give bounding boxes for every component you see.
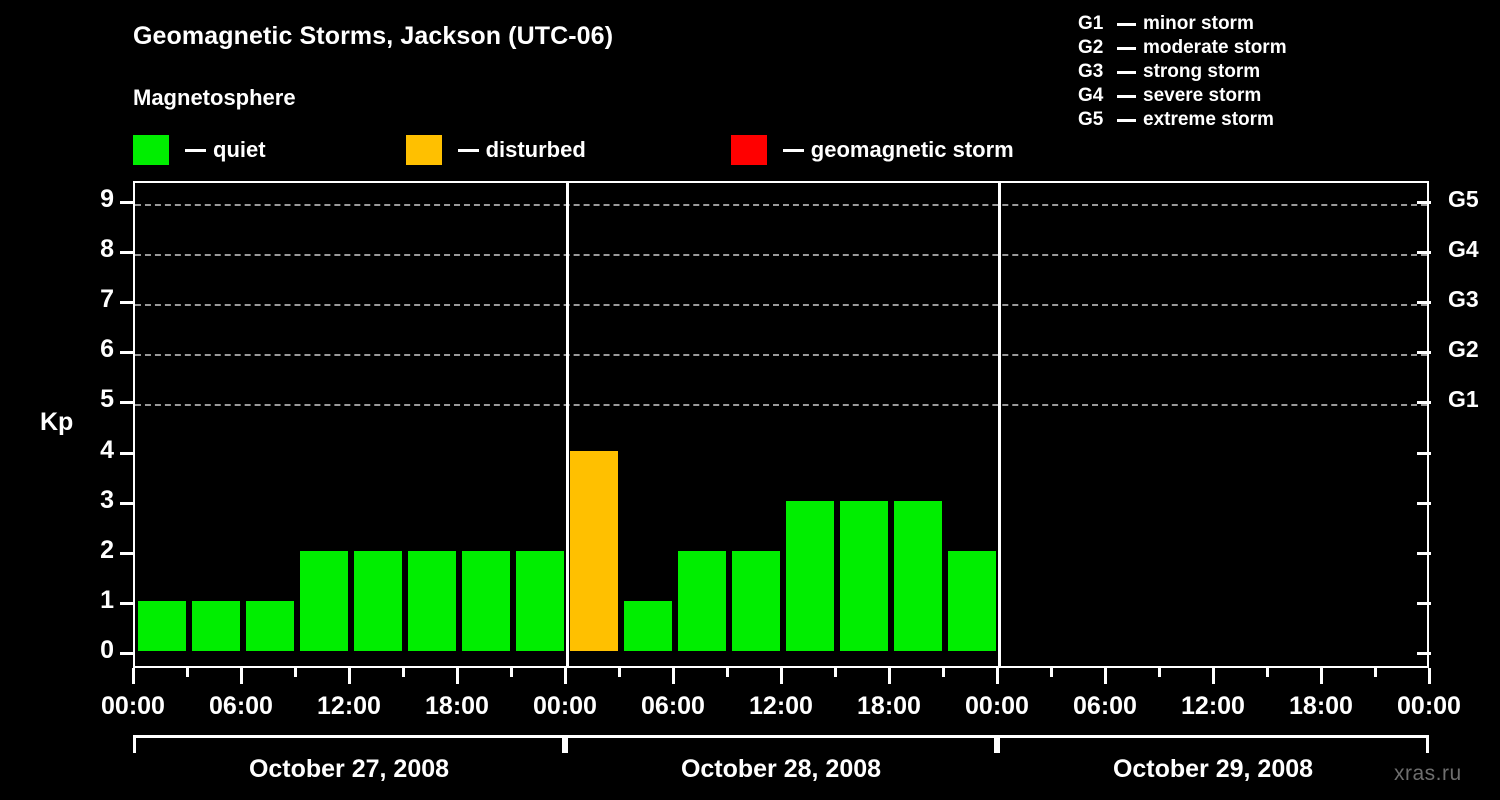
date-label-1: October 28, 2008: [681, 755, 881, 784]
x-tick-major-22: [1320, 668, 1323, 684]
legend-dash-icon: [783, 149, 804, 152]
x-tick-label-5: 06:00: [641, 692, 705, 721]
x-tick-label-2: 12:00: [317, 692, 381, 721]
kp-bar: [624, 601, 672, 651]
date-label-2: October 29, 2008: [1113, 755, 1313, 784]
x-tick-major-24: [1428, 668, 1431, 684]
plot-area: [135, 183, 1427, 666]
g-legend-description: minor storm: [1143, 13, 1254, 35]
g-tick-mark-G4: [1417, 251, 1431, 254]
kp-bar: [462, 551, 510, 651]
date-bracket-1: [565, 735, 997, 753]
quiet-swatch: [133, 135, 169, 165]
legend-entry-disturbed: disturbed: [406, 133, 586, 167]
gridline-kp-6: [135, 354, 1427, 356]
x-tick-minor-11: [726, 668, 729, 677]
g-legend-dash-icon: [1117, 47, 1136, 50]
g-axis-minor-tick-4: [1417, 452, 1431, 455]
g-legend-description: strong storm: [1143, 61, 1260, 83]
x-tick-label-12: 00:00: [1397, 692, 1461, 721]
legend-dash-icon: [185, 149, 206, 152]
x-tick-major-4: [348, 668, 351, 684]
day-divider-2: [998, 183, 1001, 666]
x-tick-label-7: 18:00: [857, 692, 921, 721]
g-legend-code: G5: [1078, 109, 1110, 131]
plot-frame: [133, 181, 1429, 668]
x-tick-major-10: [672, 668, 675, 684]
g-axis-minor-tick-1: [1417, 602, 1431, 605]
x-tick-label-10: 12:00: [1181, 692, 1245, 721]
g-legend-dash-icon: [1117, 119, 1136, 122]
g-axis-minor-tick-0: [1417, 652, 1431, 655]
kp-bar: [354, 551, 402, 651]
watermark: xras.ru: [1394, 762, 1462, 786]
g-tick-mark-G2: [1417, 351, 1431, 354]
g-tick-mark-G1: [1417, 401, 1431, 404]
kp-bar: [408, 551, 456, 651]
kp-bar: [246, 601, 294, 651]
x-tick-minor-19: [1158, 668, 1161, 677]
date-label-0: October 27, 2008: [249, 755, 449, 784]
g-tick-label-G2: G2: [1448, 336, 1479, 363]
y-tick-mark-3: [120, 502, 134, 505]
g-legend-code: G3: [1078, 61, 1110, 83]
x-tick-minor-21: [1266, 668, 1269, 677]
x-tick-major-6: [456, 668, 459, 684]
g-legend-row-g3: G3strong storm: [1078, 60, 1287, 84]
g-tick-label-G1: G1: [1448, 386, 1479, 413]
x-tick-major-16: [996, 668, 999, 684]
kp-bar: [300, 551, 348, 651]
x-tick-label-3: 18:00: [425, 692, 489, 721]
legend-label: quiet: [213, 137, 266, 163]
x-tick-major-14: [888, 668, 891, 684]
g-legend-row-g5: G5extreme storm: [1078, 108, 1287, 132]
x-tick-label-0: 00:00: [101, 692, 165, 721]
g-tick-mark-G3: [1417, 301, 1431, 304]
x-tick-label-11: 18:00: [1289, 692, 1353, 721]
day-divider-1: [566, 183, 569, 666]
g-legend-row-g1: G1minor storm: [1078, 12, 1287, 36]
kp-bar: [894, 501, 942, 651]
g-legend-row-g2: G2moderate storm: [1078, 36, 1287, 60]
x-tick-minor-17: [1050, 668, 1053, 677]
legend-dash-icon: [458, 149, 479, 152]
x-tick-major-12: [780, 668, 783, 684]
x-tick-label-1: 06:00: [209, 692, 273, 721]
y-tick-label-6: 6: [84, 335, 114, 364]
kp-bar: [948, 551, 996, 651]
x-tick-major-2: [240, 668, 243, 684]
x-tick-minor-15: [942, 668, 945, 677]
legend-label: geomagnetic storm: [811, 137, 1014, 163]
y-tick-label-1: 1: [84, 586, 114, 615]
y-tick-mark-1: [120, 602, 134, 605]
x-tick-label-4: 00:00: [533, 692, 597, 721]
g-legend-dash-icon: [1117, 95, 1136, 98]
y-tick-label-5: 5: [84, 385, 114, 414]
g-scale-legend: G1minor stormG2moderate stormG3strong st…: [1078, 12, 1287, 132]
kp-bar: [516, 551, 564, 651]
x-tick-minor-3: [294, 668, 297, 677]
legend-entry-quiet: quiet: [133, 133, 266, 167]
x-tick-minor-7: [510, 668, 513, 677]
x-tick-label-8: 00:00: [965, 692, 1029, 721]
disturbed-swatch: [406, 135, 442, 165]
gridline-kp-9: [135, 204, 1427, 206]
y-tick-mark-6: [120, 351, 134, 354]
page-title: Geomagnetic Storms, Jackson (UTC-06): [133, 22, 613, 51]
kp-bar: [138, 601, 186, 651]
x-tick-minor-5: [402, 668, 405, 677]
y-tick-label-3: 3: [84, 486, 114, 515]
y-tick-mark-9: [120, 201, 134, 204]
y-tick-label-9: 9: [84, 185, 114, 214]
gridline-kp-5: [135, 404, 1427, 406]
x-tick-minor-23: [1374, 668, 1377, 677]
x-tick-major-20: [1212, 668, 1215, 684]
g-legend-code: G4: [1078, 85, 1110, 107]
g-legend-code: G1: [1078, 13, 1110, 35]
y-axis-title: Kp: [40, 408, 73, 437]
legend-label: disturbed: [486, 137, 586, 163]
g-tick-mark-G5: [1417, 201, 1431, 204]
y-tick-label-4: 4: [84, 436, 114, 465]
y-tick-label-8: 8: [84, 235, 114, 264]
x-tick-label-9: 06:00: [1073, 692, 1137, 721]
gridline-kp-8: [135, 254, 1427, 256]
kp-bar: [786, 501, 834, 651]
g-legend-description: moderate storm: [1143, 37, 1287, 59]
kp-bar: [840, 501, 888, 651]
g-legend-dash-icon: [1117, 23, 1136, 26]
y-tick-mark-7: [120, 301, 134, 304]
subtitle-magnetosphere: Magnetosphere: [133, 85, 296, 111]
y-tick-label-7: 7: [84, 285, 114, 314]
g-legend-description: severe storm: [1143, 85, 1261, 107]
x-tick-minor-9: [618, 668, 621, 677]
g-legend-description: extreme storm: [1143, 109, 1274, 131]
y-tick-label-2: 2: [84, 536, 114, 565]
x-tick-major-8: [564, 668, 567, 684]
y-tick-mark-8: [120, 251, 134, 254]
y-tick-label-0: 0: [84, 636, 114, 665]
storm-swatch: [731, 135, 767, 165]
y-tick-mark-0: [120, 652, 134, 655]
g-legend-row-g4: G4severe storm: [1078, 84, 1287, 108]
kp-bar: [678, 551, 726, 651]
x-tick-minor-1: [186, 668, 189, 677]
g-tick-label-G5: G5: [1448, 186, 1479, 213]
g-tick-label-G4: G4: [1448, 236, 1479, 263]
g-axis-minor-tick-2: [1417, 552, 1431, 555]
g-legend-code: G2: [1078, 37, 1110, 59]
x-tick-major-0: [132, 668, 135, 684]
kp-bar: [570, 451, 618, 651]
y-tick-mark-5: [120, 401, 134, 404]
y-tick-mark-2: [120, 552, 134, 555]
g-tick-label-G3: G3: [1448, 286, 1479, 313]
y-tick-mark-4: [120, 452, 134, 455]
gridline-kp-7: [135, 304, 1427, 306]
color-legend: quietdisturbedgeomagnetic storm: [133, 133, 1014, 167]
kp-bar: [732, 551, 780, 651]
g-legend-dash-icon: [1117, 71, 1136, 74]
x-tick-major-18: [1104, 668, 1107, 684]
date-bracket-2: [997, 735, 1429, 753]
x-tick-label-6: 12:00: [749, 692, 813, 721]
kp-bar: [192, 601, 240, 651]
date-bracket-0: [133, 735, 565, 753]
legend-entry-geomagnetic-storm: geomagnetic storm: [731, 133, 1014, 167]
x-tick-minor-13: [834, 668, 837, 677]
g-axis-minor-tick-3: [1417, 502, 1431, 505]
